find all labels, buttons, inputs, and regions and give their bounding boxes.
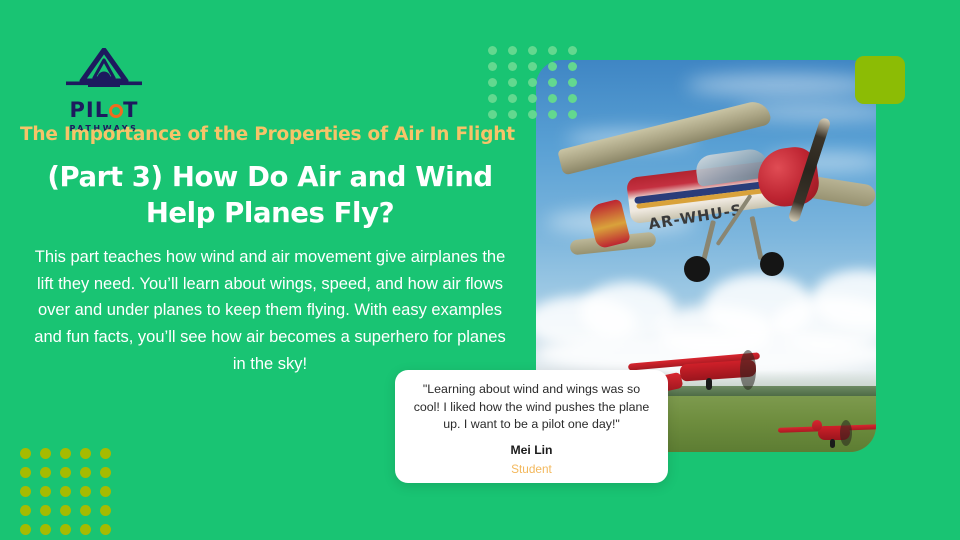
pilot-pathways-plane-icon	[58, 48, 150, 99]
logo-wordmark: PILT	[58, 100, 150, 121]
background-plane-right	[778, 418, 876, 452]
dot	[80, 524, 91, 535]
body-paragraph: This part teaches how wind and air movem…	[30, 244, 510, 378]
testimonial-card: "Learning about wind and wings was so co…	[395, 370, 668, 483]
dot	[20, 524, 31, 535]
dot	[548, 110, 557, 119]
dot	[60, 505, 71, 516]
logo-word-part1: PIL	[70, 98, 110, 122]
dot-grid-top	[488, 46, 588, 126]
plane-gear-strut	[749, 216, 763, 260]
testimonial-author: Mei Lin	[411, 443, 652, 457]
logo-word-part2: T	[123, 98, 138, 122]
dot	[568, 110, 577, 119]
page-title: (Part 3) How Do Air and Wind Help Planes…	[22, 160, 518, 232]
plane-propeller	[740, 350, 756, 390]
dot	[528, 78, 537, 87]
dot	[548, 62, 557, 71]
dot	[60, 486, 71, 497]
dot	[508, 110, 517, 119]
eyebrow-text: The Importance of the Properties of Air …	[20, 124, 520, 145]
dot	[568, 46, 577, 55]
plane-wheel	[760, 252, 784, 276]
plane-wheel	[684, 256, 710, 282]
dot	[568, 62, 577, 71]
dot	[20, 467, 31, 478]
dot	[568, 94, 577, 103]
dot	[100, 505, 111, 516]
dot	[20, 448, 31, 459]
dot	[100, 467, 111, 478]
slide-canvas: AR-WHU-S	[0, 0, 960, 540]
dot	[80, 448, 91, 459]
dot	[548, 94, 557, 103]
dot	[60, 524, 71, 535]
dot	[100, 524, 111, 535]
dot	[568, 78, 577, 87]
dot	[508, 46, 517, 55]
plane-gear-strut	[701, 220, 716, 262]
testimonial-quote: "Learning about wind and wings was so co…	[411, 381, 652, 434]
dot	[80, 467, 91, 478]
accent-square-olive	[855, 56, 905, 104]
dot	[488, 110, 497, 119]
testimonial-role: Student	[411, 462, 652, 476]
dot	[40, 448, 51, 459]
dot	[488, 46, 497, 55]
dot	[40, 467, 51, 478]
plane-landing-gear	[706, 378, 712, 390]
dot	[508, 62, 517, 71]
dot	[488, 94, 497, 103]
dot	[20, 505, 31, 516]
dot	[60, 448, 71, 459]
dot	[40, 505, 51, 516]
dot	[548, 46, 557, 55]
dot	[40, 524, 51, 535]
dot	[100, 448, 111, 459]
dot	[508, 94, 517, 103]
dot-grid-bottom	[20, 448, 120, 540]
headline-line-1: (Part 3) How Do Air and Wind	[22, 160, 518, 196]
brand-logo[interactable]: PILT PATHWAYS	[58, 48, 150, 133]
plane-tail	[812, 420, 822, 431]
dot	[528, 62, 537, 71]
logo-o-ring-icon	[109, 104, 123, 118]
dot	[528, 110, 537, 119]
dot	[548, 78, 557, 87]
dot	[20, 486, 31, 497]
dot	[80, 505, 91, 516]
dot	[488, 78, 497, 87]
plane-landing-gear	[830, 439, 835, 448]
dot	[60, 467, 71, 478]
dot	[40, 486, 51, 497]
dot	[528, 46, 537, 55]
dot	[80, 486, 91, 497]
plane-propeller	[840, 420, 852, 446]
headline-line-2: Help Planes Fly?	[22, 196, 518, 232]
dot	[488, 62, 497, 71]
dot	[528, 94, 537, 103]
dot	[100, 486, 111, 497]
dot	[508, 78, 517, 87]
